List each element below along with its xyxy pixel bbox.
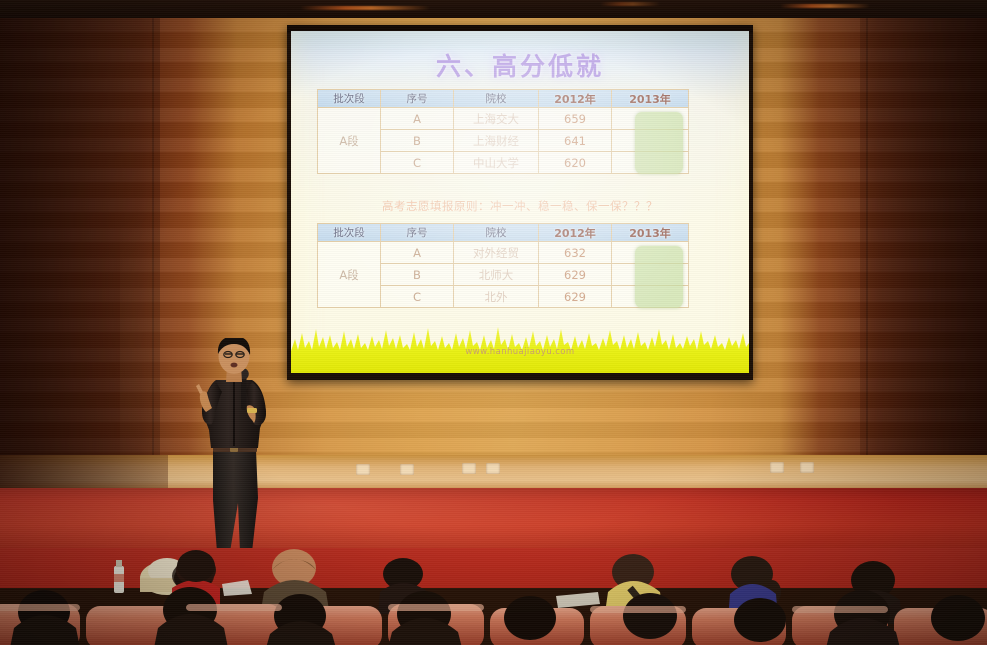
header-year-2013: 2013年	[612, 90, 689, 108]
projection-screen: 六、高分低就 批次段 序号 院校 2012年 2013年 A段 A 上海交大 6…	[291, 31, 749, 373]
cell-school: 北师大	[454, 264, 539, 286]
cell-score-2012: 629	[539, 264, 612, 286]
cell-index: C	[381, 152, 454, 174]
cell-score-2013	[612, 152, 689, 174]
header-batch: 批次段	[318, 90, 381, 108]
cell-score-2012: 632	[539, 242, 612, 264]
slide-title: 六、高分低就	[291, 47, 749, 83]
grass-decoration-icon	[291, 317, 749, 373]
wall-shadow-right	[860, 18, 987, 483]
cell-batch-segment: A段	[318, 242, 381, 308]
slide-watermark: www.hanhuajiaoyu.com	[291, 347, 749, 357]
cell-score-2013	[612, 264, 689, 286]
wall-socket	[800, 462, 814, 473]
cell-index: A	[381, 242, 454, 264]
cell-score-2012: 659	[539, 108, 612, 130]
cell-school: 上海财经	[454, 130, 539, 152]
cell-school: 北外	[454, 286, 539, 308]
header-batch: 批次段	[318, 224, 381, 242]
cell-school: 上海交大	[454, 108, 539, 130]
wall-shadow-left	[0, 18, 160, 483]
table-row: A段 A 上海交大 659	[318, 108, 689, 130]
wall-socket	[462, 463, 476, 474]
cell-score-2013	[612, 108, 689, 130]
header-index: 序号	[381, 224, 454, 242]
header-school: 院校	[454, 224, 539, 242]
presenter-figure	[186, 338, 306, 578]
score-table-two: 批次段 序号 院校 2012年 2013年 A段 A 对外经贸 632 B 北	[317, 223, 689, 308]
table-row: A段 A 对外经贸 632	[318, 242, 689, 264]
cell-batch-segment: A段	[318, 108, 381, 174]
wall-socket	[486, 463, 500, 474]
cell-score-2012: 620	[539, 152, 612, 174]
header-year-2012: 2012年	[539, 90, 612, 108]
slide-middle-note: 高考志愿填报原则：冲一冲、稳一稳、保一保？？？	[291, 198, 749, 214]
wall-socket	[400, 464, 414, 475]
table-header-row: 批次段 序号 院校 2012年 2013年	[318, 90, 689, 108]
cell-school: 对外经贸	[454, 242, 539, 264]
cell-index: C	[381, 286, 454, 308]
wall-socket	[770, 462, 784, 473]
header-year-2013: 2013年	[612, 224, 689, 242]
cell-index: A	[381, 108, 454, 130]
audience-area	[0, 548, 987, 645]
table-header-row: 批次段 序号 院校 2012年 2013年	[318, 224, 689, 242]
wall-seam	[866, 18, 868, 483]
cell-score-2013	[612, 286, 689, 308]
wall-socket	[356, 464, 370, 475]
cell-score-2012: 629	[539, 286, 612, 308]
wall-seam	[152, 18, 154, 483]
cell-index: B	[381, 264, 454, 286]
cell-score-2013	[612, 242, 689, 264]
cell-school: 中山大学	[454, 152, 539, 174]
cell-index: B	[381, 130, 454, 152]
cell-score-2012: 641	[539, 130, 612, 152]
header-school: 院校	[454, 90, 539, 108]
baseboard-shadow	[0, 455, 168, 491]
header-index: 序号	[381, 90, 454, 108]
header-year-2012: 2012年	[539, 224, 612, 242]
lecture-hall-photo: 六、高分低就 批次段 序号 院校 2012年 2013年 A段 A 上海交大 6…	[0, 0, 987, 645]
cell-score-2013	[612, 130, 689, 152]
score-table-one: 批次段 序号 院校 2012年 2013年 A段 A 上海交大 659 B 上	[317, 89, 689, 174]
